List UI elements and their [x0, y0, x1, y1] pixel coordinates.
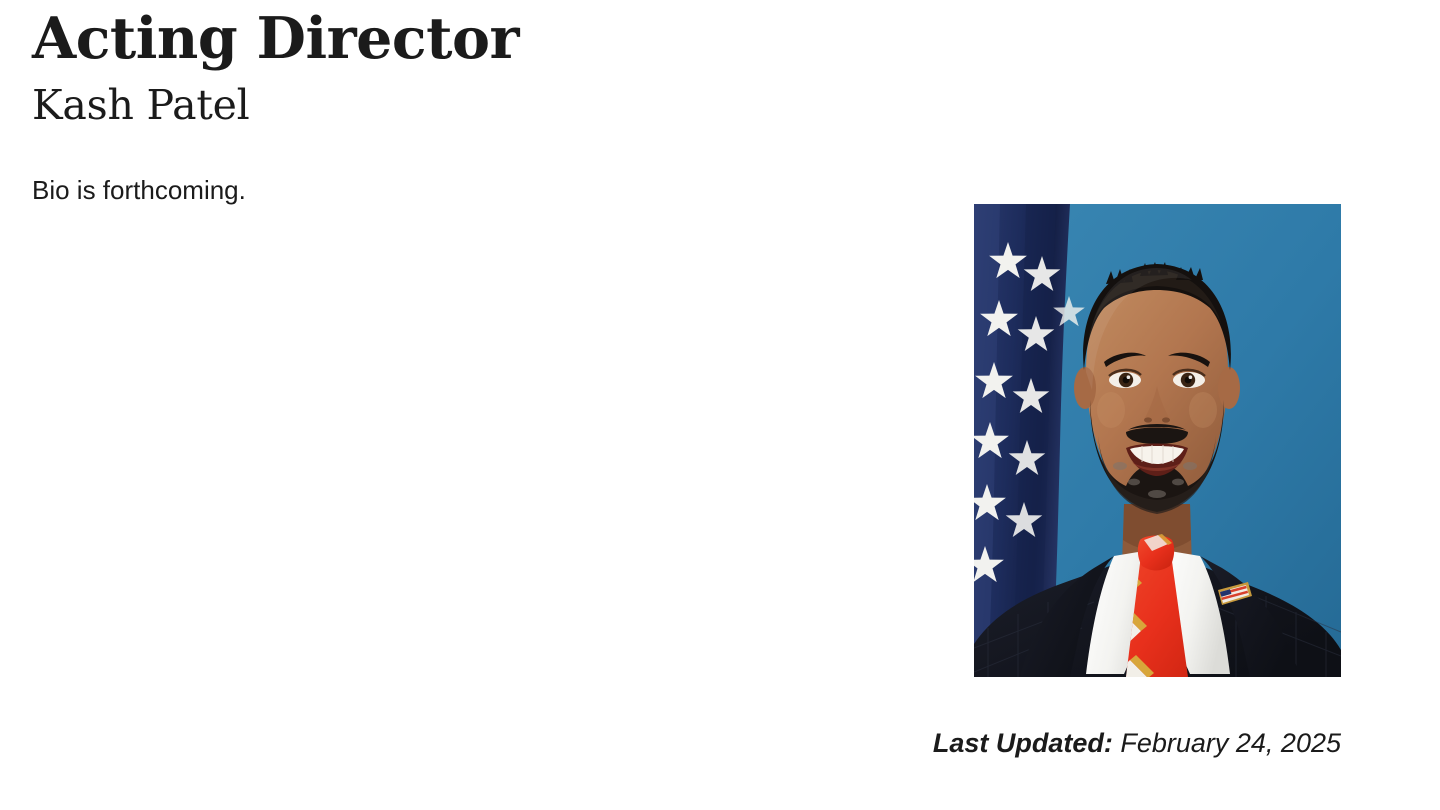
portrait-illustration — [974, 204, 1341, 677]
bio-text: Bio is forthcoming. — [32, 129, 932, 210]
last-updated: Last Updated: February 24, 2025 — [0, 726, 1341, 761]
text-column: Acting Director Kash Patel Bio is forthc… — [32, 0, 932, 210]
person-name: Kash Patel — [32, 70, 932, 129]
portrait-photo — [974, 204, 1341, 677]
last-updated-label: Last Updated: — [933, 728, 1113, 758]
page-title: Acting Director — [32, 0, 932, 70]
last-updated-date: February 24, 2025 — [1120, 728, 1341, 758]
page-root: Acting Director Kash Patel Bio is forthc… — [0, 0, 1440, 810]
